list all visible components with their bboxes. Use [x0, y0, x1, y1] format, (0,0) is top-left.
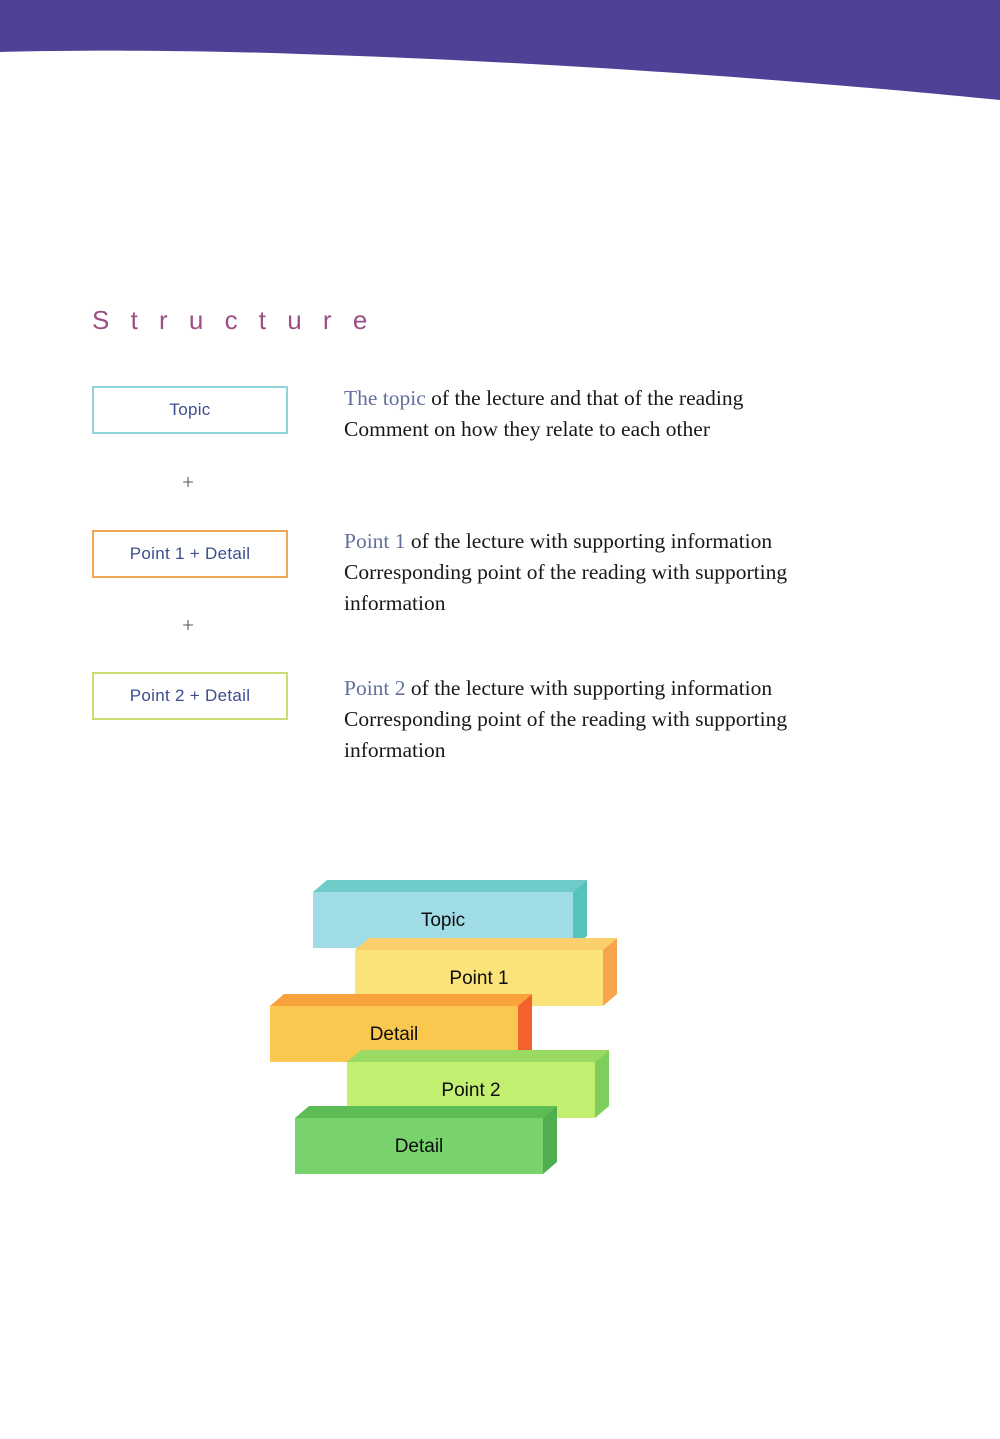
- block-detail-green-label: Detail: [395, 1136, 444, 1157]
- outline-box-point-1[interactable]: Point 1 + Detail: [92, 530, 288, 578]
- page-title: S t r u c t u r e: [92, 305, 374, 336]
- block-point-2-top: [347, 1050, 609, 1062]
- description-topic: The topic of the lecture and that of the…: [344, 383, 814, 445]
- description-topic-lead: The topic: [344, 386, 426, 410]
- description-point-2-rest: of the lecture with supporting informati…: [406, 676, 773, 700]
- block-detail-green-top: [295, 1106, 557, 1118]
- outline-column: Topic + Point 1 + Detail + Point 2 + Det…: [92, 386, 292, 720]
- description-point-2-lead: Point 2: [344, 676, 406, 700]
- block-topic: Topic: [313, 880, 587, 948]
- stacked-3d-blocks-diagram: Topic Point 1 Detail Point 2: [255, 870, 675, 1200]
- outline-separator-2: +: [92, 578, 292, 672]
- outline-separator-1: +: [92, 434, 292, 530]
- banner-curve-shape: [0, 0, 1000, 100]
- block-point-1-top: [355, 938, 617, 950]
- block-detail-green: Detail: [295, 1106, 557, 1174]
- description-point-1-rest: of the lecture with supporting informati…: [406, 529, 773, 553]
- block-detail-orange-top: [270, 994, 532, 1006]
- outline-box-topic-label: Topic: [169, 400, 210, 420]
- block-topic-top: [313, 880, 587, 892]
- outline-box-point-1-label: Point 1 + Detail: [130, 544, 251, 564]
- outline-box-point-2[interactable]: Point 2 + Detail: [92, 672, 288, 720]
- block-detail-orange-label: Detail: [370, 1024, 419, 1045]
- description-point-2: Point 2 of the lecture with supporting i…: [344, 673, 859, 766]
- outline-box-point-2-label: Point 2 + Detail: [130, 686, 251, 706]
- description-point-1: Point 1 of the lecture with supporting i…: [344, 526, 859, 619]
- header-banner: [0, 0, 1000, 120]
- block-topic-label: Topic: [421, 910, 465, 931]
- description-point-1-line-2: Corresponding point of the reading with …: [344, 560, 787, 615]
- description-point-2-line-2: Corresponding point of the reading with …: [344, 707, 787, 762]
- description-topic-line-2: Comment on how they relate to each other: [344, 417, 710, 441]
- block-point-2-label: Point 2: [441, 1080, 500, 1101]
- description-point-1-lead: Point 1: [344, 529, 406, 553]
- block-point-1-label: Point 1: [449, 968, 508, 989]
- outline-box-topic[interactable]: Topic: [92, 386, 288, 434]
- description-topic-rest: of the lecture and that of the reading: [426, 386, 744, 410]
